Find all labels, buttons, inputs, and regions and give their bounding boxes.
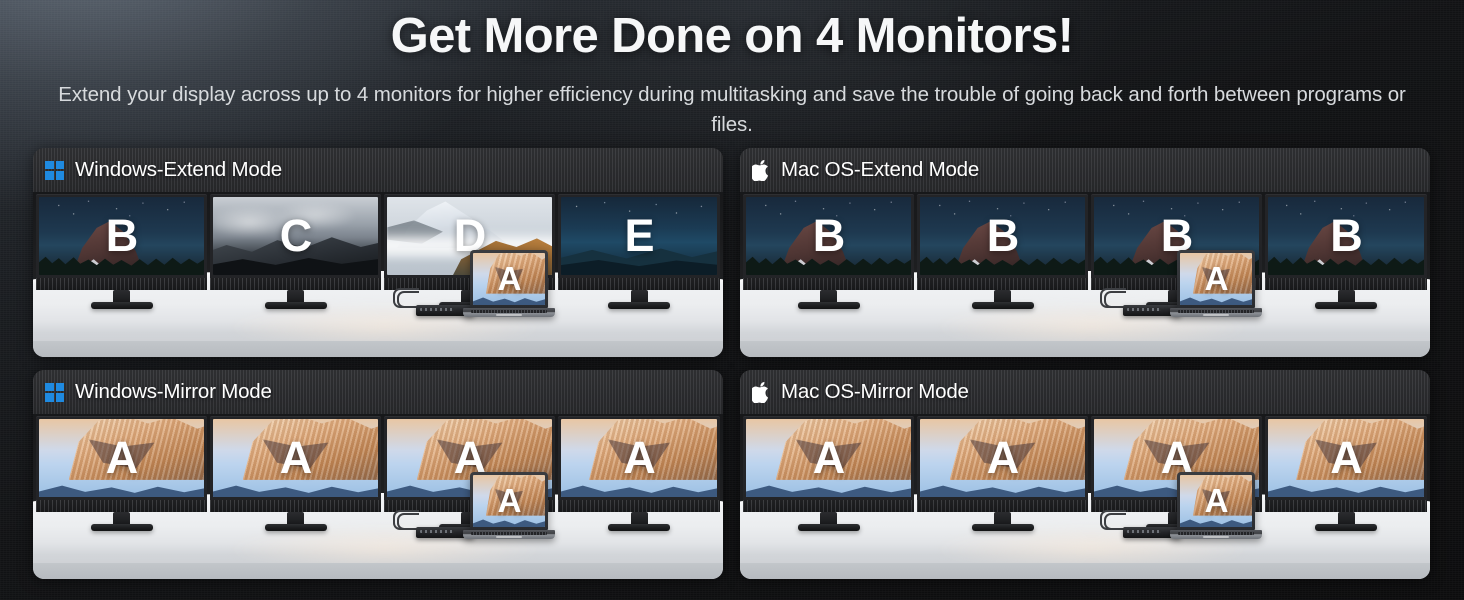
desk-front-edge	[33, 563, 723, 579]
laptop-label: A	[1180, 253, 1252, 305]
laptop: A	[1177, 472, 1262, 539]
monitor-1: A	[36, 416, 207, 512]
monitor-screen: A	[1268, 419, 1424, 497]
monitor-4: A	[558, 416, 720, 512]
monitor-stand-base	[1315, 524, 1377, 531]
mode-panel-windows-extend: Windows-Extend ModeBCDEA	[33, 148, 723, 357]
desk-scene: AAAAA	[33, 414, 723, 579]
monitor-screen: B	[39, 197, 204, 275]
monitor-4: E	[558, 194, 720, 290]
monitor-chin	[743, 278, 914, 290]
monitor-label: A	[1268, 419, 1424, 497]
desk-scene: AAAAA	[740, 414, 1430, 579]
monitor-label: A	[39, 419, 204, 497]
monitor-chin	[558, 500, 720, 512]
monitor-chin	[917, 278, 1088, 290]
laptop-screen: A	[473, 253, 545, 305]
monitor-label: A	[920, 419, 1085, 497]
laptop-keyboard	[1178, 310, 1254, 313]
mode-panel-windows-mirror: Windows-Mirror ModeAAAAA	[33, 370, 723, 579]
monitor-stand-base	[265, 302, 327, 309]
monitor-1: B	[36, 194, 207, 290]
laptop-lid: A	[1177, 250, 1255, 308]
monitor-2: B	[917, 194, 1088, 290]
monitor-label: A	[746, 419, 911, 497]
page-subtitle: Extend your display across up to 4 monit…	[54, 80, 1410, 140]
laptop-base	[1170, 308, 1262, 317]
panel-title: Windows-Mirror Mode	[75, 380, 272, 404]
monitor-label: A	[561, 419, 717, 497]
monitor-screen: A	[39, 419, 204, 497]
monitor-stand-base	[972, 302, 1034, 309]
laptop-screen: A	[473, 475, 545, 527]
monitor-screen: A	[920, 419, 1085, 497]
monitor-label: A	[213, 419, 378, 497]
monitor-array: BBBB	[740, 192, 1430, 292]
monitor-stand-base	[91, 524, 153, 531]
monitor-2: A	[917, 416, 1088, 512]
monitor-stand-base	[972, 524, 1034, 531]
monitor-array: BCDE	[33, 192, 723, 292]
panel-title: Mac OS-Mirror Mode	[781, 380, 969, 404]
laptop-base	[1170, 530, 1262, 539]
laptop-lid: A	[470, 472, 548, 530]
desk-front-edge	[33, 341, 723, 357]
apple-logo-icon	[752, 160, 770, 181]
monitor-screen: B	[746, 197, 911, 275]
monitor-chin	[210, 278, 381, 290]
monitor-label: B	[746, 197, 911, 275]
monitor-label: B	[39, 197, 204, 275]
laptop-base	[463, 530, 555, 539]
laptop-label: A	[473, 475, 545, 527]
monitor-chin	[743, 500, 914, 512]
monitor-array: AAAA	[33, 414, 723, 514]
laptop-lid: A	[470, 250, 548, 308]
monitor-4: A	[1265, 416, 1427, 512]
monitor-label: E	[561, 197, 717, 275]
panel-title: Windows-Extend Mode	[75, 158, 282, 182]
monitor-1: B	[743, 194, 914, 290]
monitor-chin	[36, 500, 207, 512]
monitor-stand-base	[798, 302, 860, 309]
desk-scene: BBBBA	[740, 192, 1430, 357]
laptop-label: A	[473, 253, 545, 305]
laptop-keyboard	[1178, 532, 1254, 535]
monitor-chin	[1265, 278, 1427, 290]
desk-front-edge	[740, 341, 1430, 357]
laptop: A	[1177, 250, 1262, 317]
monitor-1: A	[743, 416, 914, 512]
panel-header: Mac OS-Extend Mode	[740, 148, 1430, 192]
laptop-screen: A	[1180, 475, 1252, 527]
monitor-chin	[210, 500, 381, 512]
monitor-stand-base	[1315, 302, 1377, 309]
monitor-screen: B	[920, 197, 1085, 275]
monitor-chin	[558, 278, 720, 290]
mode-panel-macos-mirror: Mac OS-Mirror ModeAAAAA	[740, 370, 1430, 579]
laptop-lid: A	[1177, 472, 1255, 530]
monitor-screen: A	[746, 419, 911, 497]
windows-logo-icon	[45, 161, 64, 180]
panel-title: Mac OS-Extend Mode	[781, 158, 979, 182]
monitor-2: A	[210, 416, 381, 512]
monitor-screen: C	[213, 197, 378, 275]
monitor-stand-base	[798, 524, 860, 531]
monitor-screen: B	[1268, 197, 1424, 275]
monitor-screen: A	[561, 419, 717, 497]
monitor-chin	[36, 278, 207, 290]
monitor-screen: A	[213, 419, 378, 497]
laptop-screen: A	[1180, 253, 1252, 305]
laptop-keyboard	[471, 532, 547, 535]
monitor-label: B	[920, 197, 1085, 275]
laptop: A	[470, 250, 555, 317]
monitor-stand-base	[608, 524, 670, 531]
monitor-4: B	[1265, 194, 1427, 290]
monitor-stand-base	[91, 302, 153, 309]
monitor-chin	[917, 500, 1088, 512]
monitor-2: C	[210, 194, 381, 290]
monitor-stand-base	[608, 302, 670, 309]
desk-scene: BCDEA	[33, 192, 723, 357]
monitor-label: B	[1268, 197, 1424, 275]
promo-background: Get More Done on 4 Monitors! Extend your…	[0, 0, 1464, 600]
monitor-stand-base	[265, 524, 327, 531]
panel-header: Mac OS-Mirror Mode	[740, 370, 1430, 414]
monitor-array: AAAA	[740, 414, 1430, 514]
laptop-keyboard	[471, 310, 547, 313]
panel-header: Windows-Mirror Mode	[33, 370, 723, 414]
monitor-screen: E	[561, 197, 717, 275]
laptop-base	[463, 308, 555, 317]
windows-logo-icon	[45, 383, 64, 402]
laptop-label: A	[1180, 475, 1252, 527]
monitor-label: C	[213, 197, 378, 275]
mode-panel-macos-extend: Mac OS-Extend ModeBBBBA	[740, 148, 1430, 357]
desk-front-edge	[740, 563, 1430, 579]
laptop: A	[470, 472, 555, 539]
page-title: Get More Done on 4 Monitors!	[0, 8, 1464, 64]
monitor-chin	[1265, 500, 1427, 512]
apple-logo-icon	[752, 382, 770, 403]
panel-header: Windows-Extend Mode	[33, 148, 723, 192]
